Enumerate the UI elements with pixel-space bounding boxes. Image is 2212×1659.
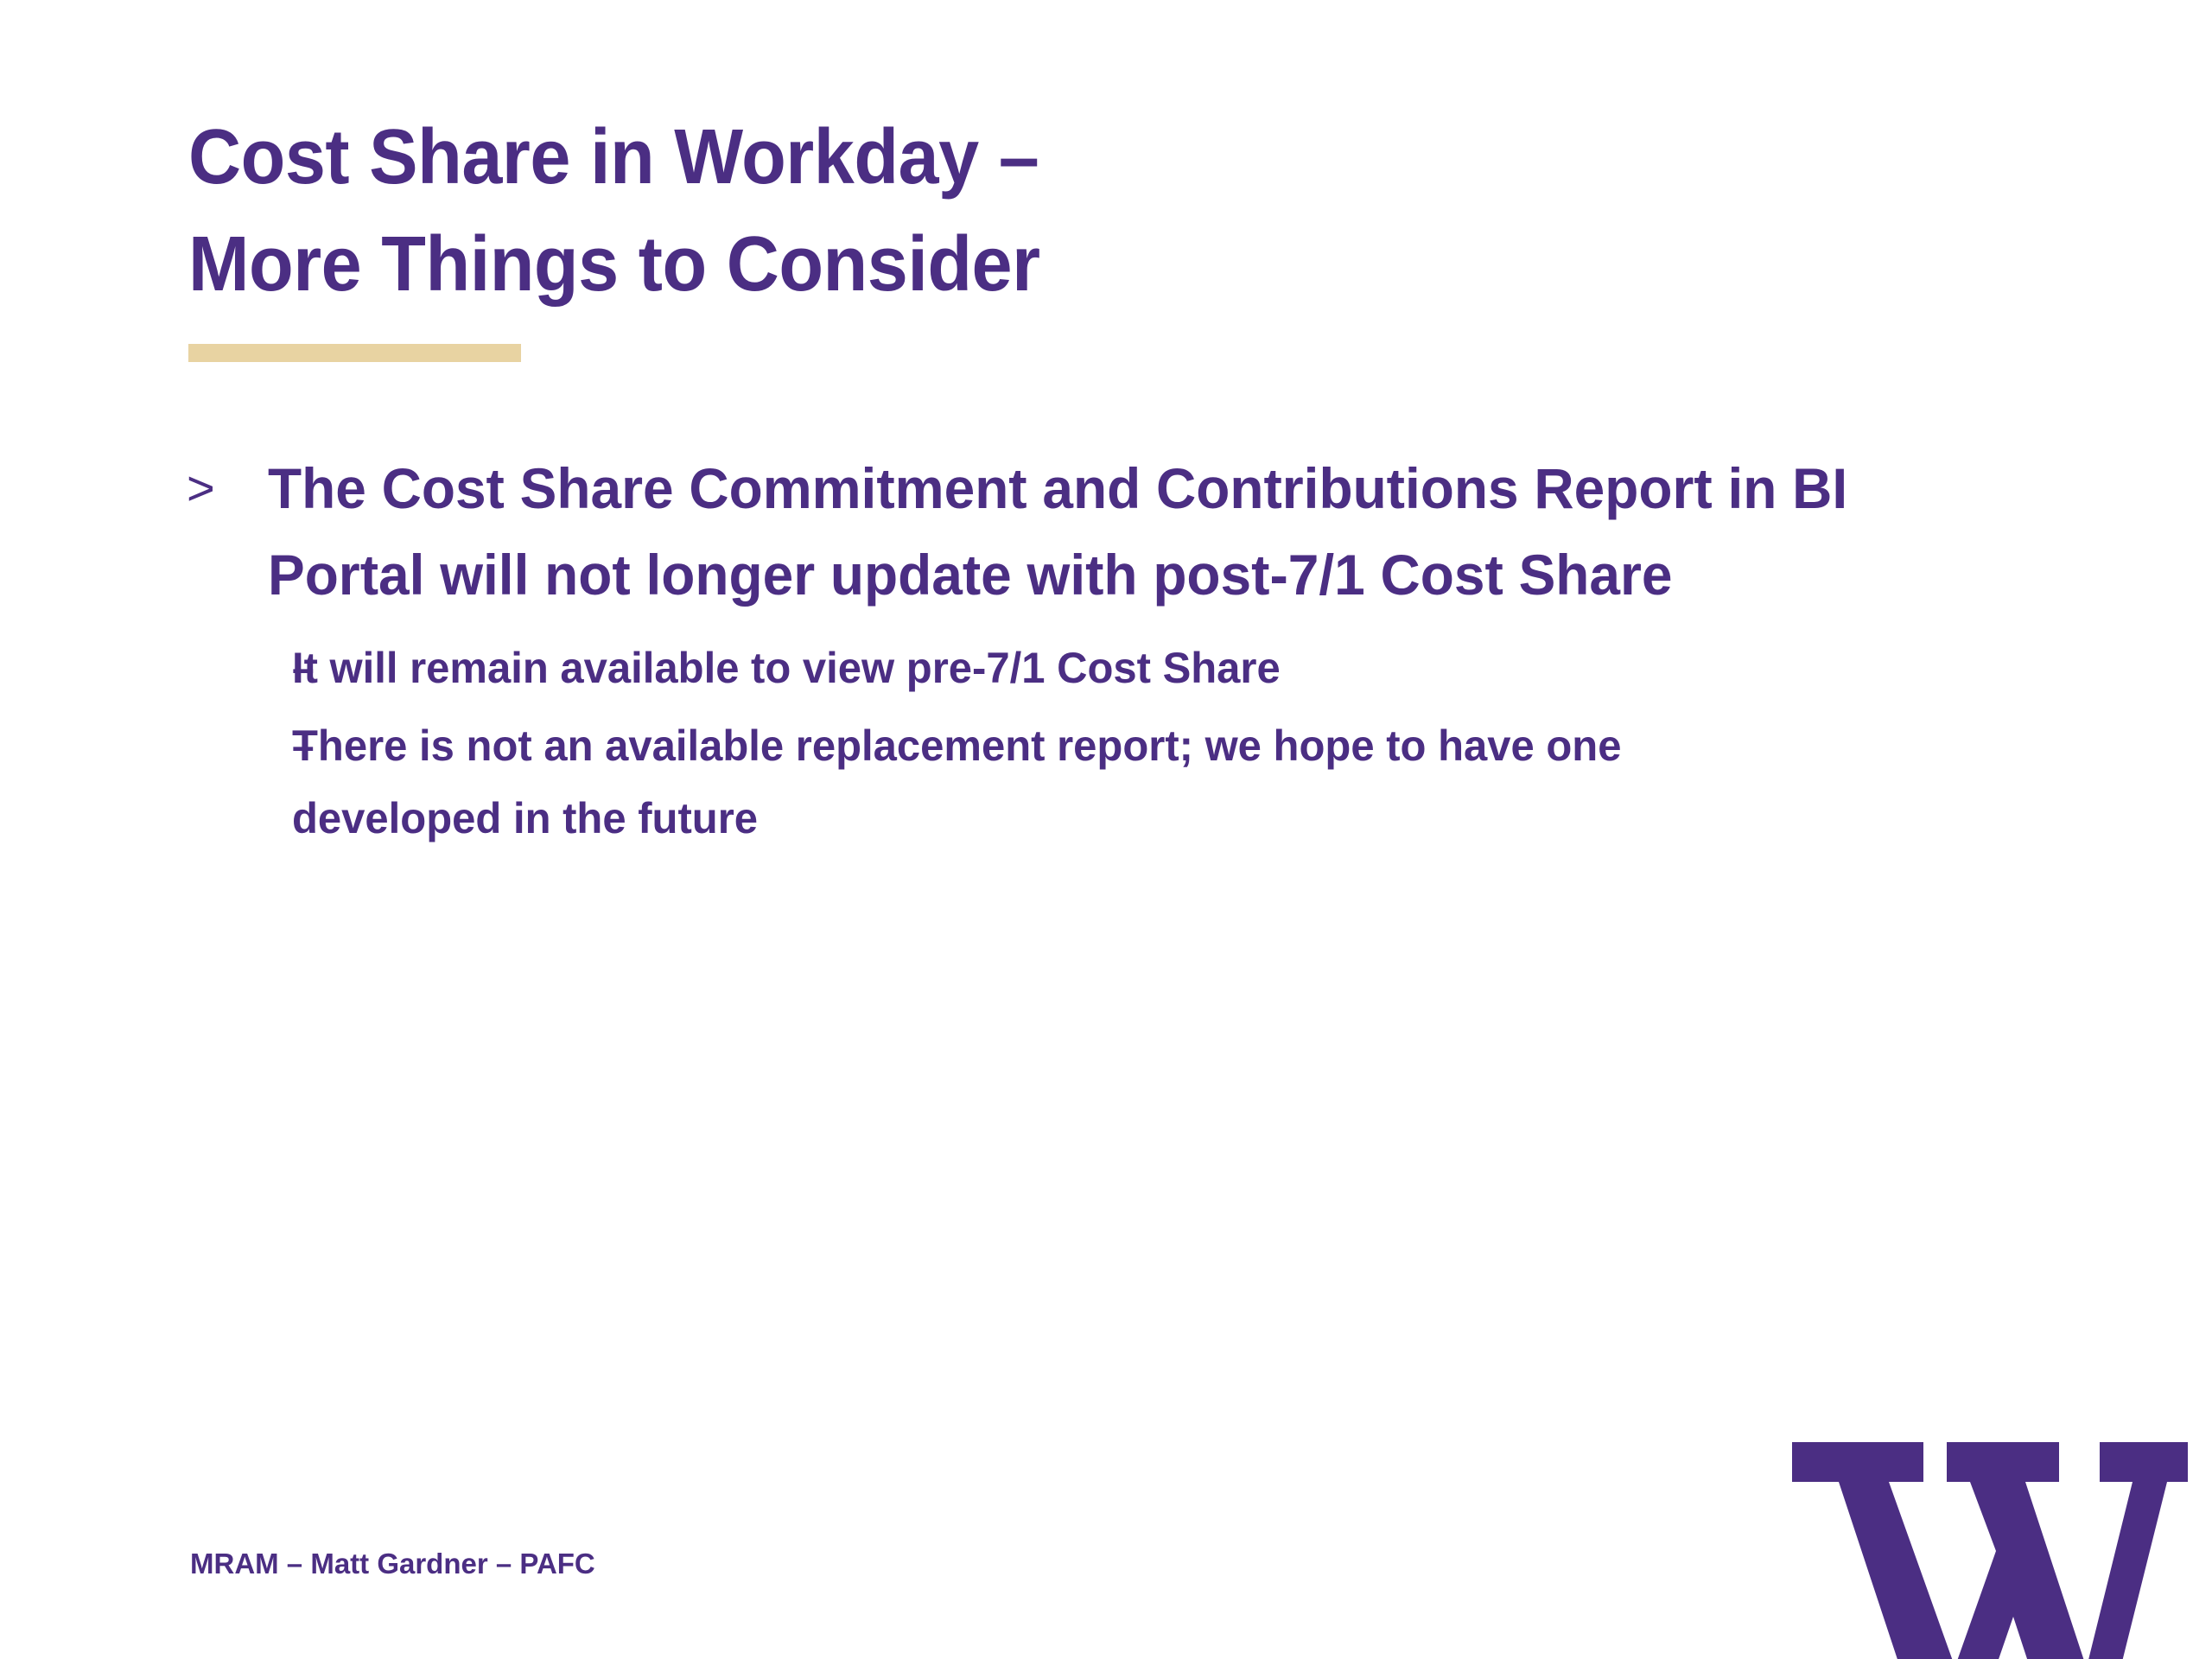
dash-marker-icon: – [181, 709, 292, 782]
slide-title: Cost Share in Workday – More Things to C… [188, 104, 2003, 318]
bullet-marker-icon: > [181, 445, 268, 531]
slide-footer: MRAM – Matt Gardner – PAFC [190, 1547, 595, 1581]
bullet-level-2: – There is not an available replacement … [181, 709, 2048, 855]
title-accent-bar [188, 344, 521, 362]
bullet-level-2: – It will remain available to view pre-7… [181, 632, 2048, 704]
bullet-level-1-text: The Cost Share Commitment and Contributi… [268, 445, 1967, 618]
uw-logo-icon [1787, 1432, 2193, 1659]
title-line-1: Cost Share in Workday – [188, 104, 1894, 211]
slide: Cost Share in Workday – More Things to C… [0, 0, 2212, 1659]
title-line-2: More Things to Consider [188, 211, 1894, 318]
slide-body: > The Cost Share Commitment and Contribu… [181, 445, 2048, 860]
sub-bullet-list: – It will remain available to view pre-7… [181, 632, 2048, 855]
dash-marker-icon: – [181, 632, 292, 704]
bullet-level-2-text: There is not an available replacement re… [292, 709, 1816, 855]
bullet-level-1: > The Cost Share Commitment and Contribu… [181, 445, 2048, 618]
bullet-level-2-text: It will remain available to view pre-7/1… [292, 632, 1816, 704]
